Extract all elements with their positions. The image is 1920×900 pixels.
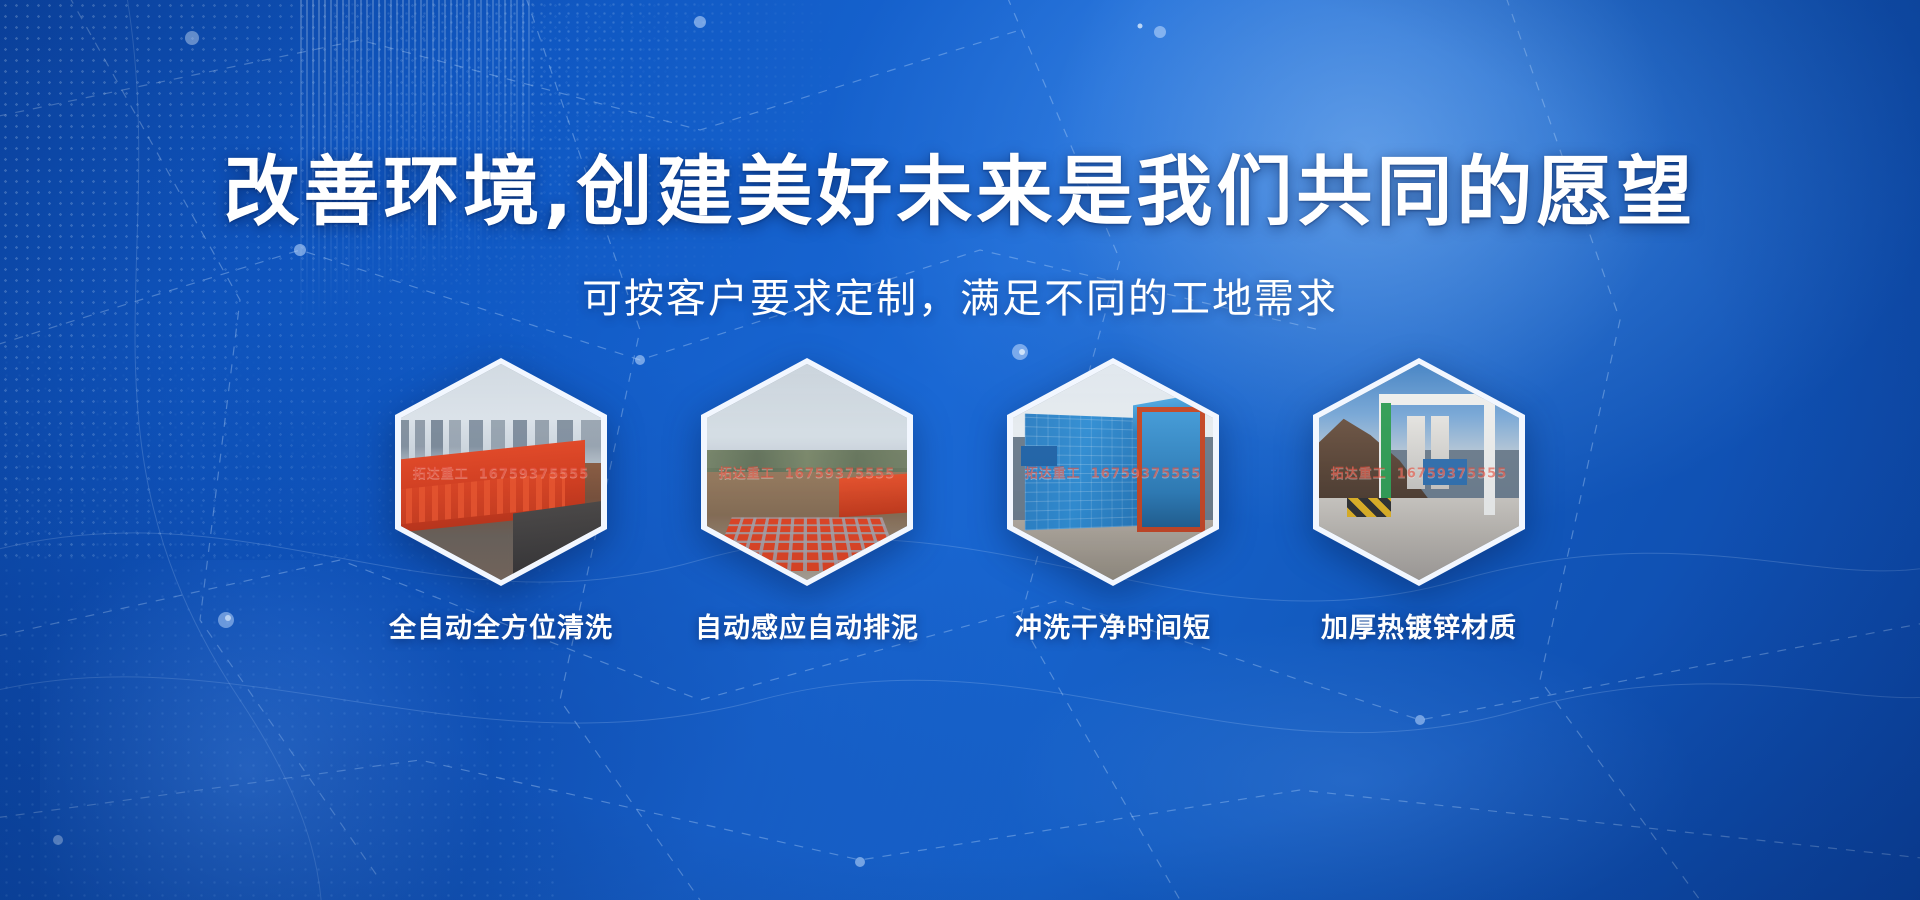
feature-item-3[interactable]: 拓达重工16759375555 冲洗干净时间短 xyxy=(997,358,1229,645)
photo-watermark-4: 拓达重工16759375555 xyxy=(1319,463,1519,482)
feature-caption-4: 加厚热镀锌材质 xyxy=(1321,606,1517,645)
feature-item-2[interactable]: 拓达重工16759375555 自动感应自动排泥 xyxy=(691,358,923,645)
banner-subtitle: 可按客户要求定制，满足不同的工地需求 xyxy=(0,266,1920,324)
hexagon-frame-4: 拓达重工16759375555 xyxy=(1313,358,1525,586)
photo-watermark-1: 拓达重工16759375555 xyxy=(401,463,601,482)
watermark-brand: 拓达重工 xyxy=(719,467,775,482)
photo-watermark-2: 拓达重工16759375555 xyxy=(707,463,907,482)
feature-caption-2: 自动感应自动排泥 xyxy=(695,606,919,645)
promo-banner: 改善环境,创建美好未来是我们共同的愿望 可按客户要求定制，满足不同的工地需求 拓… xyxy=(0,0,1920,900)
watermark-phone: 16759375555 xyxy=(479,467,590,482)
feature-item-1[interactable]: 拓达重工16759375555 全自动全方位清洗 xyxy=(385,358,617,645)
hexagon-frame-3: 拓达重工16759375555 xyxy=(1007,358,1219,586)
hexagon-frame-1: 拓达重工16759375555 xyxy=(395,358,607,586)
watermark-brand: 拓达重工 xyxy=(1025,467,1081,482)
watermark-brand: 拓达重工 xyxy=(413,467,469,482)
banner-content: 改善环境,创建美好未来是我们共同的愿望 可按客户要求定制，满足不同的工地需求 拓… xyxy=(0,0,1920,900)
watermark-brand: 拓达重工 xyxy=(1331,467,1387,482)
feature-caption-3: 冲洗干净时间短 xyxy=(1015,606,1211,645)
feature-hexagon-row: 拓达重工16759375555 全自动全方位清洗 xyxy=(0,358,1920,645)
watermark-phone: 16759375555 xyxy=(1397,467,1508,482)
feature-caption-1: 全自动全方位清洗 xyxy=(389,606,613,645)
watermark-phone: 16759375555 xyxy=(1091,467,1202,482)
hexagon-frame-2: 拓达重工16759375555 xyxy=(701,358,913,586)
photo-watermark-3: 拓达重工16759375555 xyxy=(1013,463,1213,482)
banner-headline: 改善环境,创建美好未来是我们共同的愿望 xyxy=(0,152,1920,233)
feature-item-4[interactable]: 拓达重工16759375555 加厚热镀锌材质 xyxy=(1303,358,1535,645)
watermark-phone: 16759375555 xyxy=(785,467,896,482)
